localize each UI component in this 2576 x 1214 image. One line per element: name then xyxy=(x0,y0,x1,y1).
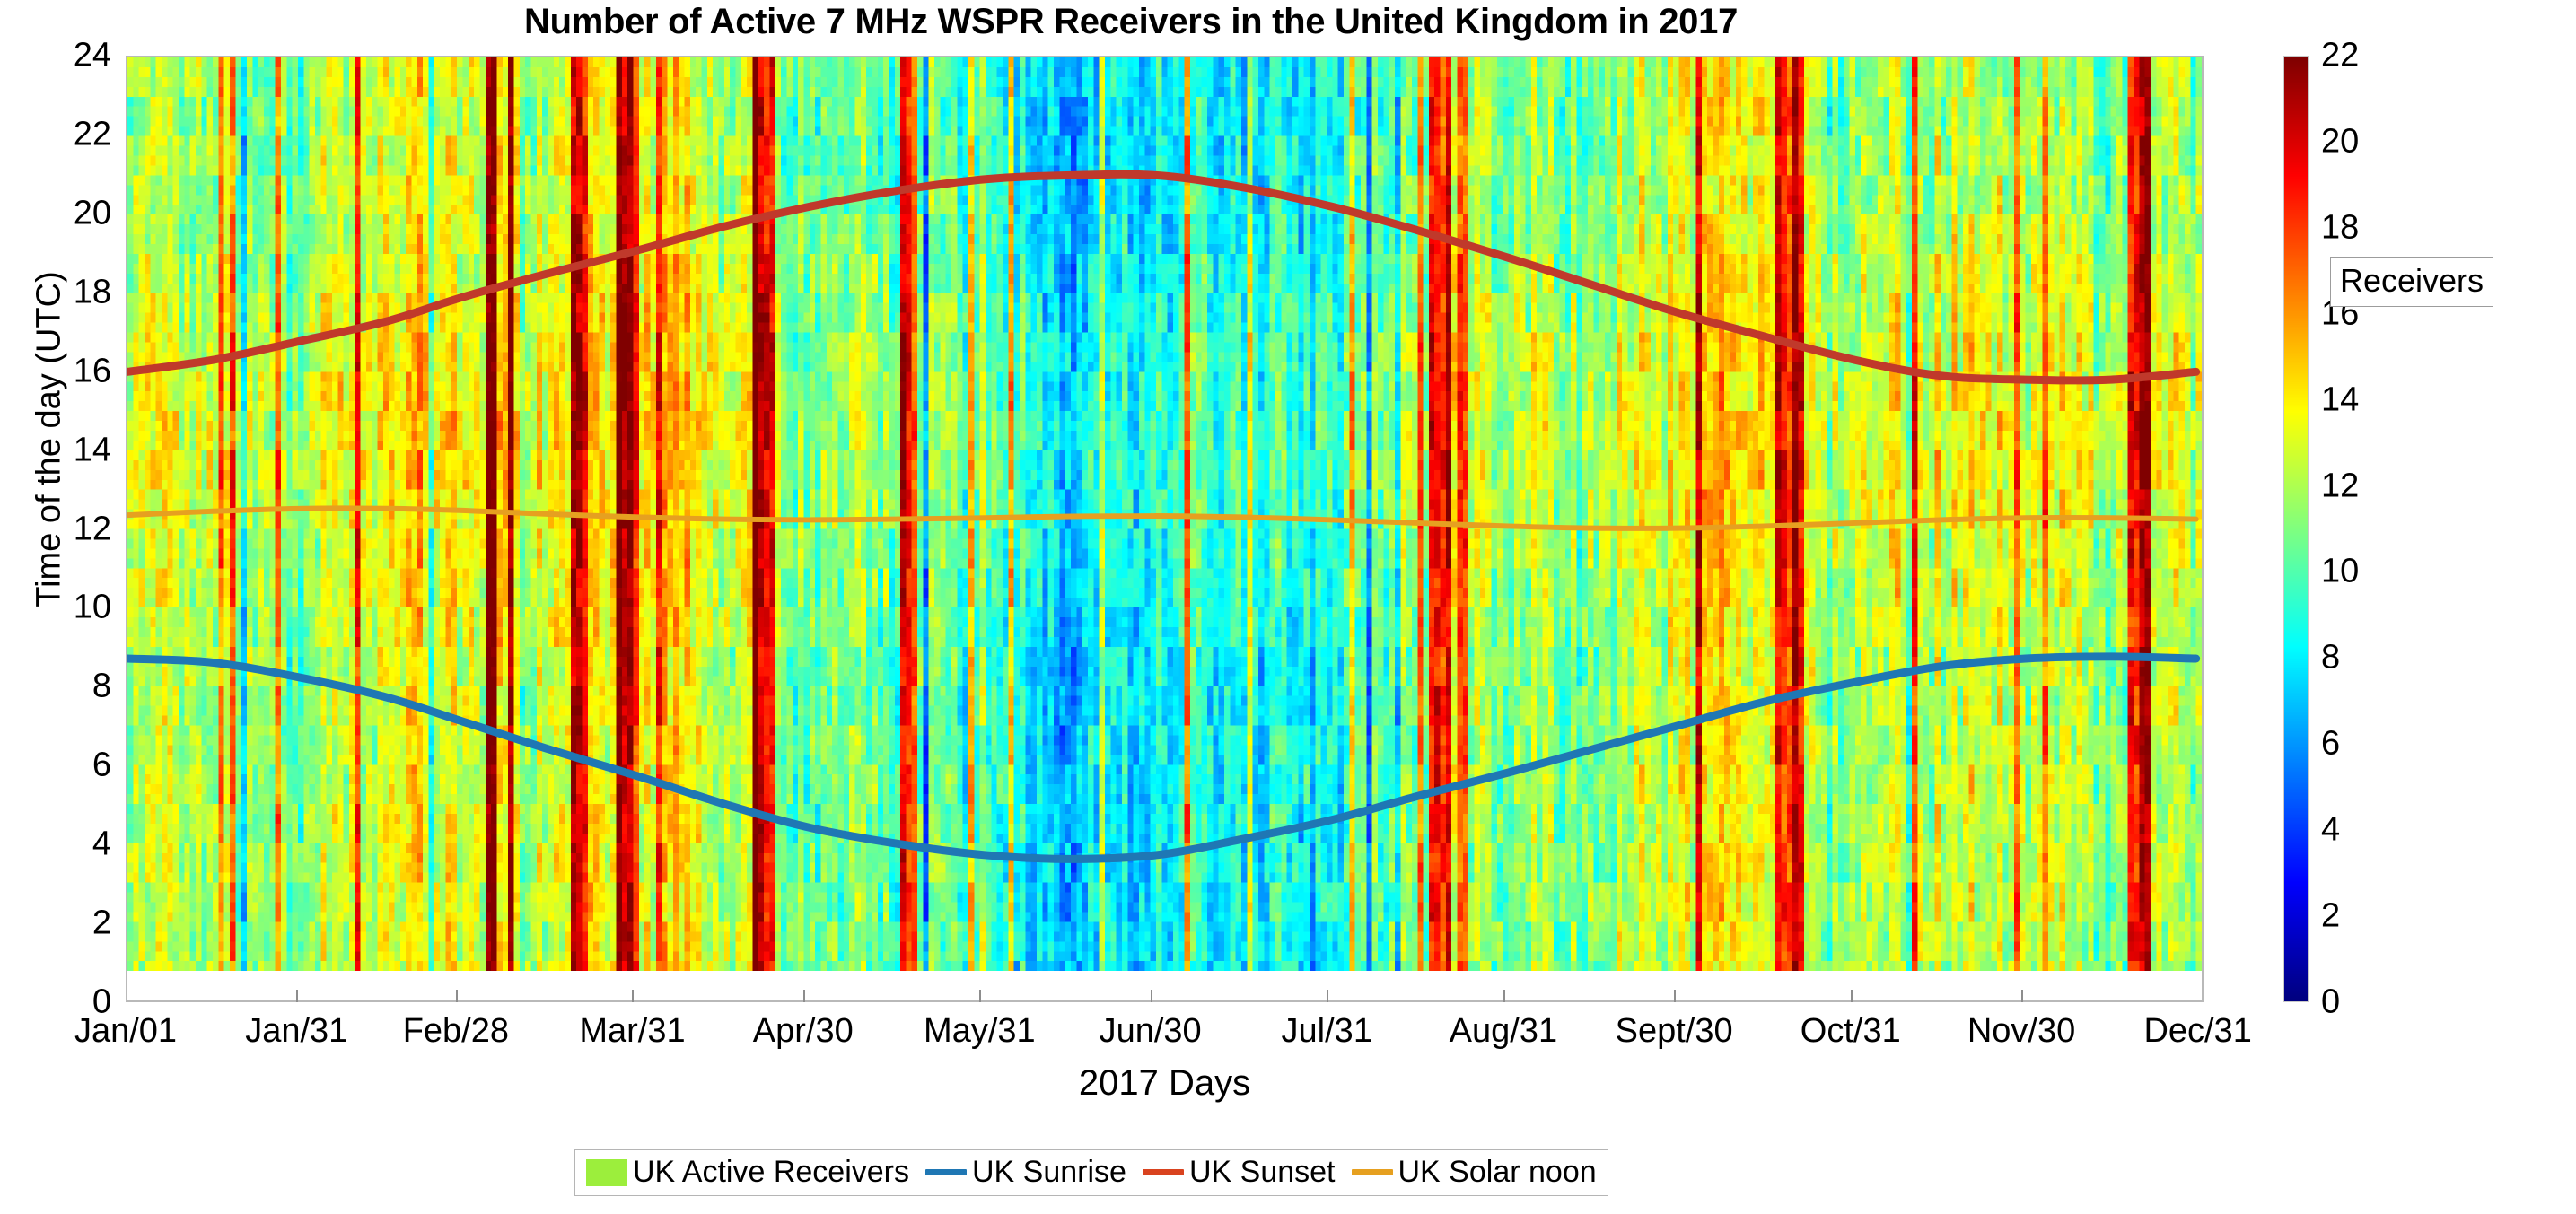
legend-line-swatch xyxy=(1143,1169,1184,1175)
colorbar-tick-label: 0 xyxy=(2321,983,2340,1022)
x-tick-mark xyxy=(1327,990,1328,1002)
colorbar-tick-label: 20 xyxy=(2321,122,2359,161)
legend-item-4[interactable]: UK Solar noon xyxy=(1352,1155,1597,1190)
x-tick-label: Feb/28 xyxy=(403,1012,509,1051)
colorbar-tick-label: 14 xyxy=(2321,380,2359,419)
y-tick-label: 14 xyxy=(4,431,111,469)
chart-legend: UK Active ReceiversUK SunriseUK SunsetUK… xyxy=(574,1149,1608,1196)
colorbar-tick-label: 18 xyxy=(2321,208,2359,247)
x-tick-mark xyxy=(632,990,634,1002)
x-tick-label: Jan/01 xyxy=(74,1012,177,1051)
x-tick-mark xyxy=(1851,990,1853,1002)
uk-sunset-line xyxy=(127,174,2196,380)
chart-root: Number of Active 7 MHz WSPR Receivers in… xyxy=(0,0,2576,1214)
legend-item-3[interactable]: UK Sunset xyxy=(1143,1155,1336,1190)
x-tick-mark xyxy=(1674,990,1676,1002)
x-tick-label: Sept/30 xyxy=(1616,1012,1733,1051)
legend-label: UK Sunset xyxy=(1189,1155,1336,1190)
legend-color-patch xyxy=(586,1159,627,1186)
colorbar-tick-label: 2 xyxy=(2321,897,2340,936)
legend-label: UK Active Receivers xyxy=(633,1155,909,1190)
legend-label: UK Sunrise xyxy=(972,1155,1126,1190)
legend-item-1[interactable]: UK Active Receivers xyxy=(586,1155,909,1190)
x-tick-label: Dec/31 xyxy=(2143,1012,2251,1051)
colorbar-tick-label: 12 xyxy=(2321,467,2359,505)
x-tick-label: Oct/31 xyxy=(1801,1012,1901,1051)
y-tick-label: 22 xyxy=(4,115,111,153)
x-tick-label: Jan/31 xyxy=(245,1012,347,1051)
x-tick-mark xyxy=(979,990,981,1002)
x-tick-label: May/31 xyxy=(924,1012,1036,1051)
y-tick-label: 20 xyxy=(4,194,111,232)
x-axis-label: 2017 Days xyxy=(126,1063,2204,1104)
y-tick-label: 24 xyxy=(4,37,111,75)
chart-title: Number of Active 7 MHz WSPR Receivers in… xyxy=(0,2,2262,42)
colorbar-title: Receivers xyxy=(2330,257,2493,307)
x-tick-mark xyxy=(456,990,458,1002)
legend-line-swatch xyxy=(1352,1169,1393,1175)
x-tick-label: Jul/31 xyxy=(1282,1012,1372,1051)
colorbar-tick-label: 6 xyxy=(2321,725,2340,764)
x-tick-mark xyxy=(2021,990,2023,1002)
y-tick-label: 18 xyxy=(4,273,111,311)
colorbar-tick-label: 22 xyxy=(2321,37,2359,75)
y-tick-label: 2 xyxy=(4,904,111,943)
y-tick-label: 6 xyxy=(4,747,111,785)
uk-sunrise-line xyxy=(127,657,2196,860)
x-tick-mark xyxy=(296,990,298,1002)
x-tick-mark xyxy=(1151,990,1152,1002)
x-tick-label: Jun/30 xyxy=(1100,1012,1202,1051)
x-tick-label: Apr/30 xyxy=(753,1012,854,1051)
x-tick-label: Nov/30 xyxy=(1967,1012,2075,1051)
solar-curves-overlay xyxy=(127,57,2202,1000)
y-tick-label: 4 xyxy=(4,825,111,864)
y-tick-label: 10 xyxy=(4,589,111,627)
legend-line-swatch xyxy=(925,1169,967,1175)
x-tick-mark xyxy=(803,990,805,1002)
y-tick-label: 8 xyxy=(4,668,111,706)
x-tick-label: Mar/31 xyxy=(579,1012,685,1051)
legend-label: UK Solar noon xyxy=(1398,1155,1597,1190)
colorbar-tick-label: 4 xyxy=(2321,811,2340,850)
colorbar xyxy=(2283,56,2309,1002)
y-tick-label: 16 xyxy=(4,352,111,390)
plot-area xyxy=(126,56,2204,1002)
uk-solar-noon-line xyxy=(127,508,2196,528)
legend-item-2[interactable]: UK Sunrise xyxy=(925,1155,1126,1190)
x-tick-mark xyxy=(1503,990,1505,1002)
colorbar-tick-label: 10 xyxy=(2321,553,2359,591)
x-tick-label: Aug/31 xyxy=(1450,1012,1557,1051)
colorbar-tick-label: 8 xyxy=(2321,639,2340,677)
y-tick-label: 12 xyxy=(4,510,111,548)
